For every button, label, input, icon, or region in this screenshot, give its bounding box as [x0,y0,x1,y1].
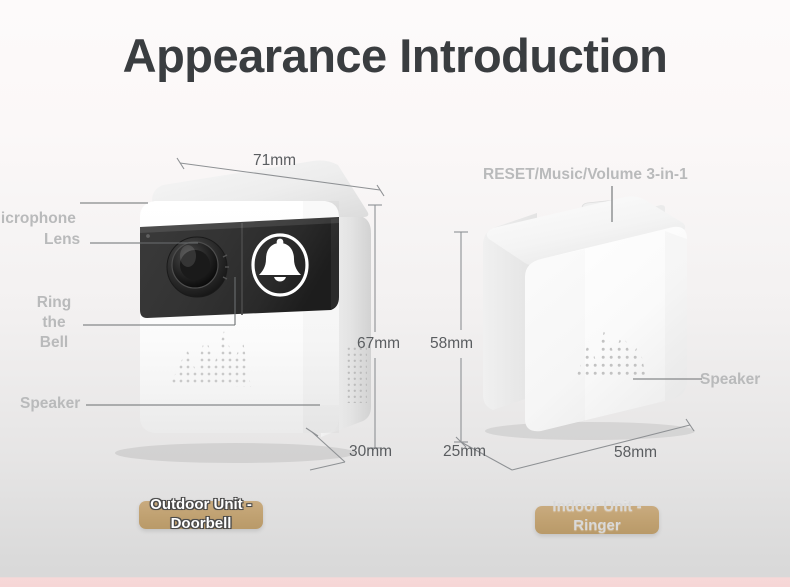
dimension-indoor-depth: 25mm [443,443,486,461]
page-title: Appearance Introduction [0,28,790,83]
callout-microphone: Microphone [0,209,76,229]
indoor-unit-badge-text: Indoor Unit - Ringer [525,497,669,535]
indoor-unit-ringer-image [465,195,705,460]
outdoor-unit-badge-line1: Outdoor Unit - [150,496,252,513]
callout-speaker-indoor: Speaker [700,370,760,390]
callout-speaker-outdoor-label: Speaker [20,395,80,412]
side-vent-grille [345,347,367,403]
outdoor-unit-badge-line2: Doorbell [171,515,232,532]
outdoor-unit-doorbell-image [95,155,395,465]
callout-speaker-indoor-label: Speaker [700,371,760,388]
dimension-outdoor-width: 71mm [253,152,296,170]
callout-reset-music-volume-label: RESET/Music/Volume 3-in-1 [483,166,688,183]
callout-reset-music-volume: RESET/Music/Volume 3-in-1 [483,165,688,185]
indoor-unit-badge-line1: Indoor Unit - [552,498,641,515]
microphone-hole [146,234,150,238]
indoor-unit-badge-line2: Ringer [573,517,621,534]
appearance-introduction-page: Appearance Introduction [0,0,790,587]
outdoor-unit-badge-text: Outdoor Unit - Doorbell [129,495,273,533]
dimension-outdoor-height: 67mm [357,335,400,353]
dimension-indoor-width: 58mm [614,444,657,462]
callout-microphone-label: Microphone [0,210,76,227]
callout-lens-label: Lens [44,231,80,248]
callout-ring-the-bell: Ring the Bell [24,293,84,353]
dimension-indoor-height: 58mm [430,335,473,353]
dimension-outdoor-depth: 30mm [349,443,392,461]
callout-ring-the-bell-line1: Ring [24,293,84,313]
callout-ring-the-bell-line2: the [24,313,84,333]
callout-speaker-outdoor: Speaker [20,394,80,414]
callout-lens: Lens [44,230,80,250]
callout-ring-the-bell-line3: Bell [24,333,84,353]
